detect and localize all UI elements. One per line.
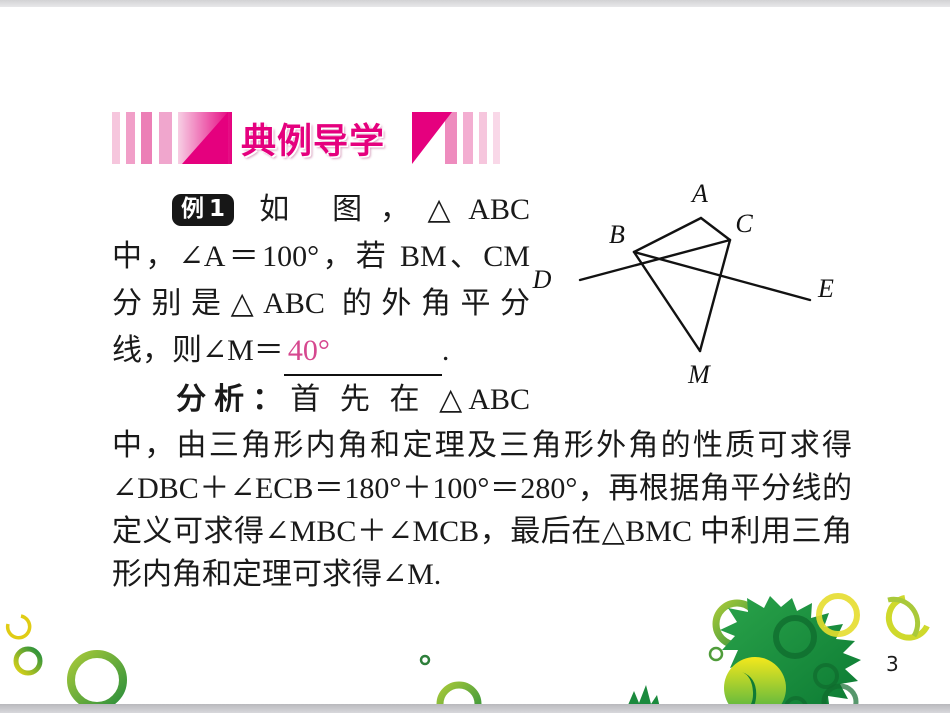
slide-canvas: 典例导学 例1 如 图，△ABC 中，∠A＝100°，若 BM、CM 分别是△A… — [0, 0, 950, 713]
answer-blank: 40° — [284, 327, 442, 376]
geometry-figure: A B C D E M — [520, 178, 860, 393]
example-text-column: 例1 如 图，△ABC 中，∠A＝100°，若 BM、CM 分别是△ABC 的外… — [112, 186, 530, 423]
deco-arc-yellow-small — [8, 616, 30, 638]
example-line-4-prefix: 线，则∠M＝ — [112, 334, 284, 367]
banner-title: 典例导学 — [204, 111, 422, 165]
deco-arc-green-1 — [888, 599, 918, 636]
example-line-4-suffix: . — [442, 334, 450, 367]
segment-B-A — [634, 218, 701, 252]
example-badge-number: 1 — [209, 194, 225, 224]
example-line-4: 线，则∠M＝40°. — [112, 327, 530, 376]
example-line-1: 例1 如 图，△ABC — [112, 186, 530, 233]
example-badge: 例1 — [172, 194, 234, 226]
figure-label-D: D — [532, 265, 552, 294]
deco-ring-3 — [421, 656, 429, 664]
section-banner: 典例导学 — [112, 112, 500, 164]
deco-arc-yellow-2 — [889, 598, 927, 638]
example-line-3: 分别是△ABC 的外角平分 — [112, 280, 530, 327]
deco-ring-7 — [766, 628, 776, 638]
example-line-2: 中，∠A＝100°，若 BM、CM — [112, 233, 530, 280]
segment-D-C — [580, 240, 730, 280]
page-number: 3 — [886, 652, 899, 676]
deco-ring-5 — [716, 603, 758, 645]
analysis-label: 分析： — [170, 383, 290, 416]
figure-label-C: C — [735, 209, 753, 238]
slide-bottom-bar — [0, 704, 950, 713]
figure-label-B: B — [609, 220, 625, 249]
segment-A-C — [701, 218, 730, 240]
analysis-first-line: 分析：首 先 在 △ABC — [112, 376, 530, 423]
deco-ring-9 — [776, 618, 814, 656]
analysis-body: 中，由三角形内角和定理及三角形外角的性质可求得∠DBC＋∠ECB＝180°＋10… — [112, 424, 852, 596]
example-badge-label: 例 — [181, 196, 204, 222]
analysis-first-line-text: 首 先 在 △ABC — [290, 383, 530, 416]
figure-label-M: M — [687, 360, 711, 389]
deco-ring-10 — [815, 665, 837, 687]
deco-ring-2 — [71, 654, 123, 706]
deco-ring-6 — [760, 610, 774, 624]
example-line-1-text: 如 图，△ABC — [259, 193, 530, 226]
deco-ring-8 — [710, 648, 722, 660]
segment-C-M — [700, 240, 730, 351]
slide-top-bar — [0, 0, 950, 7]
figure-label-A: A — [690, 179, 708, 208]
deco-leaf — [720, 596, 861, 712]
deco-ring-1 — [16, 649, 40, 673]
figure-label-E: E — [817, 274, 834, 303]
deco-ring-yellow-1 — [819, 596, 857, 634]
